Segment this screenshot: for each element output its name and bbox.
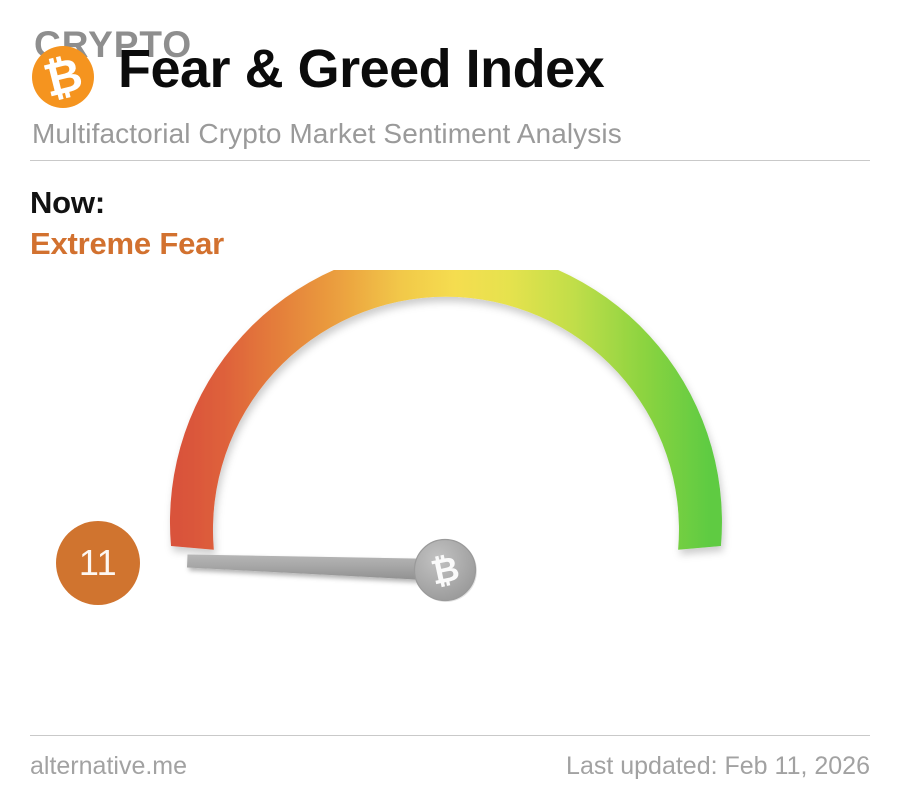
gauge-chart: ₿ — [0, 270, 900, 700]
gauge-needle: ₿ — [187, 540, 477, 603]
last-updated-text: Last updated: Feb 11, 2026 — [566, 752, 870, 781]
gauge-arc-band — [170, 270, 722, 550]
status-badge: Extreme Fear — [30, 227, 224, 261]
footer: alternative.me Last updated: Feb 11, 202… — [30, 752, 870, 781]
status-now-label: Now: — [30, 186, 224, 220]
crypto-fear-greed-index-widget: CRYPTO ₿ Fear & Greed Index Multifactori… — [0, 0, 900, 805]
footer-divider — [30, 735, 870, 736]
brand-row: CRYPTO ₿ Fear & Greed Index — [30, 14, 870, 106]
status-block: Now: Extreme Fear — [30, 186, 224, 261]
gauge-svg: ₿ — [0, 270, 900, 700]
header: CRYPTO ₿ Fear & Greed Index Multifactori… — [30, 14, 870, 154]
bitcoin-logo-glyph: ₿ — [32, 46, 94, 108]
page-subtitle: Multifactorial Crypto Market Sentiment A… — [32, 118, 622, 150]
header-divider — [30, 160, 870, 161]
bitcoin-logo-icon: ₿ — [32, 46, 94, 108]
page-title: Fear & Greed Index — [118, 42, 604, 96]
gauge-value-text: 11 — [79, 545, 117, 581]
source-link[interactable]: alternative.me — [30, 752, 187, 781]
gauge-value-badge: 11 — [56, 521, 140, 605]
